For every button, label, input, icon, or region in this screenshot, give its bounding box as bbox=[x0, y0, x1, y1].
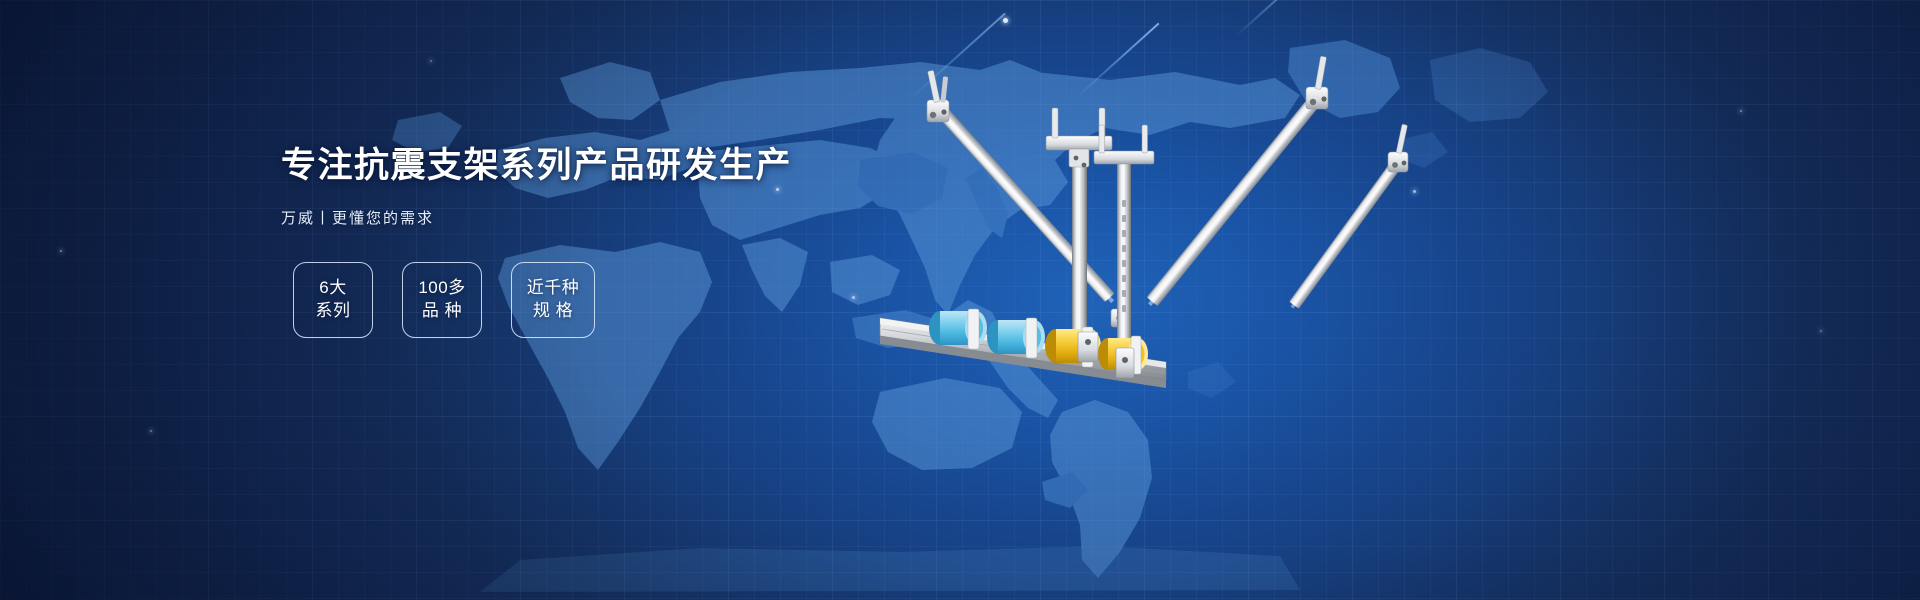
star-dot bbox=[150, 430, 152, 432]
star-dot bbox=[60, 250, 62, 252]
page-subtitle: 万威丨更懂您的需求 bbox=[281, 207, 841, 228]
brace-right-2 bbox=[1289, 124, 1408, 309]
page-title: 专注抗震支架系列产品研发生产 bbox=[281, 146, 841, 187]
badge-varieties-line1: 100多 bbox=[418, 277, 465, 300]
star-dot bbox=[430, 60, 432, 62]
badge-specs-line1: 近千种 bbox=[527, 277, 580, 300]
badge-specs-line2: 规 格 bbox=[533, 300, 573, 323]
badge-series-line2: 系列 bbox=[316, 300, 351, 323]
brace-right-1 bbox=[1147, 56, 1328, 306]
star-dot bbox=[1003, 18, 1008, 23]
hero-copy: 专注抗震支架系列产品研发生产 万威丨更懂您的需求 bbox=[281, 146, 841, 228]
pipe-blue bbox=[929, 309, 987, 349]
hero-banner: 专注抗震支架系列产品研发生产 万威丨更懂您的需求 6大 系列 100多 品 种 … bbox=[0, 0, 1920, 600]
pipe-blue bbox=[987, 318, 1045, 358]
brace-left bbox=[927, 70, 1129, 327]
stat-badge-group: 6大 系列 100多 品 种 近千种 规 格 bbox=[293, 262, 595, 338]
badge-specs[interactable]: 近千种 规 格 bbox=[511, 262, 595, 338]
star-dot bbox=[1820, 330, 1822, 332]
badge-series[interactable]: 6大 系列 bbox=[293, 262, 373, 338]
product-image-seismic-bracket bbox=[820, 50, 1440, 410]
badge-varieties-line2: 品 种 bbox=[422, 300, 462, 323]
badge-series-line1: 6大 bbox=[319, 277, 346, 300]
badge-varieties[interactable]: 100多 品 种 bbox=[402, 262, 482, 338]
star-dot bbox=[1740, 110, 1742, 112]
